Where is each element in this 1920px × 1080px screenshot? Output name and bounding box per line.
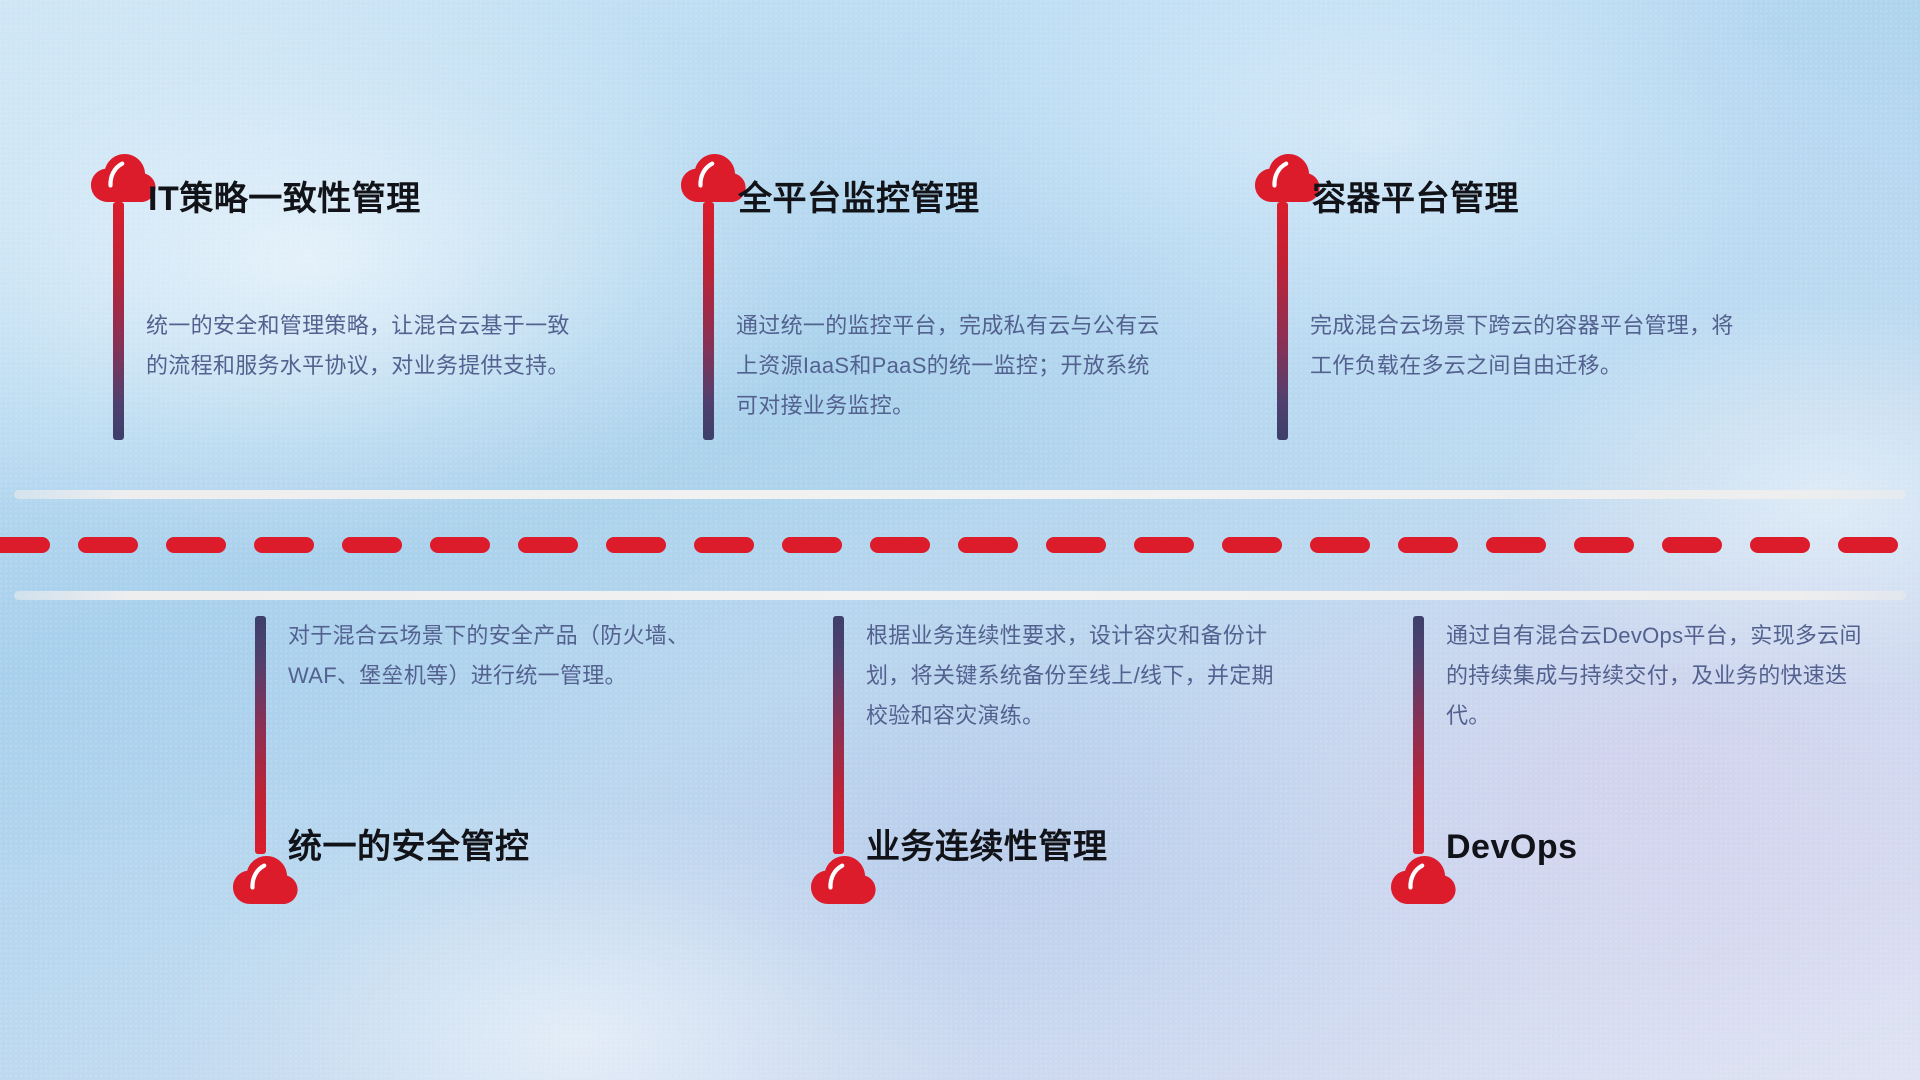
road-dash-segment (1662, 537, 1722, 553)
stem-line (255, 616, 266, 854)
feature-heading: 统一的安全管控 (288, 830, 530, 864)
infographic-canvas: IT策略一致性管理 统一的安全和管理策略，让混合云基于一致的流程和服务水平协议，… (0, 0, 1920, 1080)
stem-line (703, 202, 714, 440)
road-dash-segment (78, 537, 138, 553)
stem-line (1277, 202, 1288, 440)
road-dash-segment (1046, 537, 1106, 553)
feature-body: 完成混合云场景下跨云的容器平台管理，将工作负载在多云之间自由迁移。 (1310, 306, 1740, 386)
feature-heading: 业务连续性管理 (866, 830, 1108, 864)
road-dash-segment (1574, 537, 1634, 553)
feature-heading: IT策略一致性管理 (148, 182, 421, 216)
road-dash-segment (166, 537, 226, 553)
feature-heading: DevOps (1446, 830, 1578, 864)
feature-body: 通过自有混合云DevOps平台，实现多云间的持续集成与持续交付，及业务的快速迭代… (1446, 616, 1876, 736)
road-divider (0, 490, 1920, 600)
road-dash-segment (342, 537, 402, 553)
stem-line (113, 202, 124, 440)
road-dash-segment (1222, 537, 1282, 553)
feature-heading: 全平台监控管理 (738, 182, 980, 216)
road-edge-line-top (14, 490, 1906, 499)
road-center-dashed-line (0, 537, 1920, 553)
road-dash-segment (1486, 537, 1546, 553)
road-dash-segment (1398, 537, 1458, 553)
road-dash-segment (254, 537, 314, 553)
road-dash-segment (958, 537, 1018, 553)
road-dash-segment (1838, 537, 1898, 553)
road-dash-segment (430, 537, 490, 553)
road-edge-line-bottom (14, 591, 1906, 600)
feature-body: 对于混合云场景下的安全产品（防火墙、WAF、堡垒机等）进行统一管理。 (288, 616, 718, 696)
road-dash-segment (1310, 537, 1370, 553)
stem-line (1413, 616, 1424, 854)
road-dash-segment (518, 537, 578, 553)
road-dash-segment (782, 537, 842, 553)
road-dash-segment (606, 537, 666, 553)
feature-body: 统一的安全和管理策略，让混合云基于一致的流程和服务水平协议，对业务提供支持。 (146, 306, 576, 386)
road-dash-segment (694, 537, 754, 553)
road-dash-segment (870, 537, 930, 553)
stem-line (833, 616, 844, 854)
feature-body: 通过统一的监控平台，完成私有云与公有云上资源IaaS和PaaS的统一监控；开放系… (736, 306, 1166, 426)
feature-heading: 容器平台管理 (1312, 182, 1519, 216)
feature-body: 根据业务连续性要求，设计容灾和备份计划，将关键系统备份至线上/线下，并定期校验和… (866, 616, 1296, 736)
road-dash-segment (1134, 537, 1194, 553)
road-dash-segment (1750, 537, 1810, 553)
road-dash-segment (0, 537, 50, 553)
